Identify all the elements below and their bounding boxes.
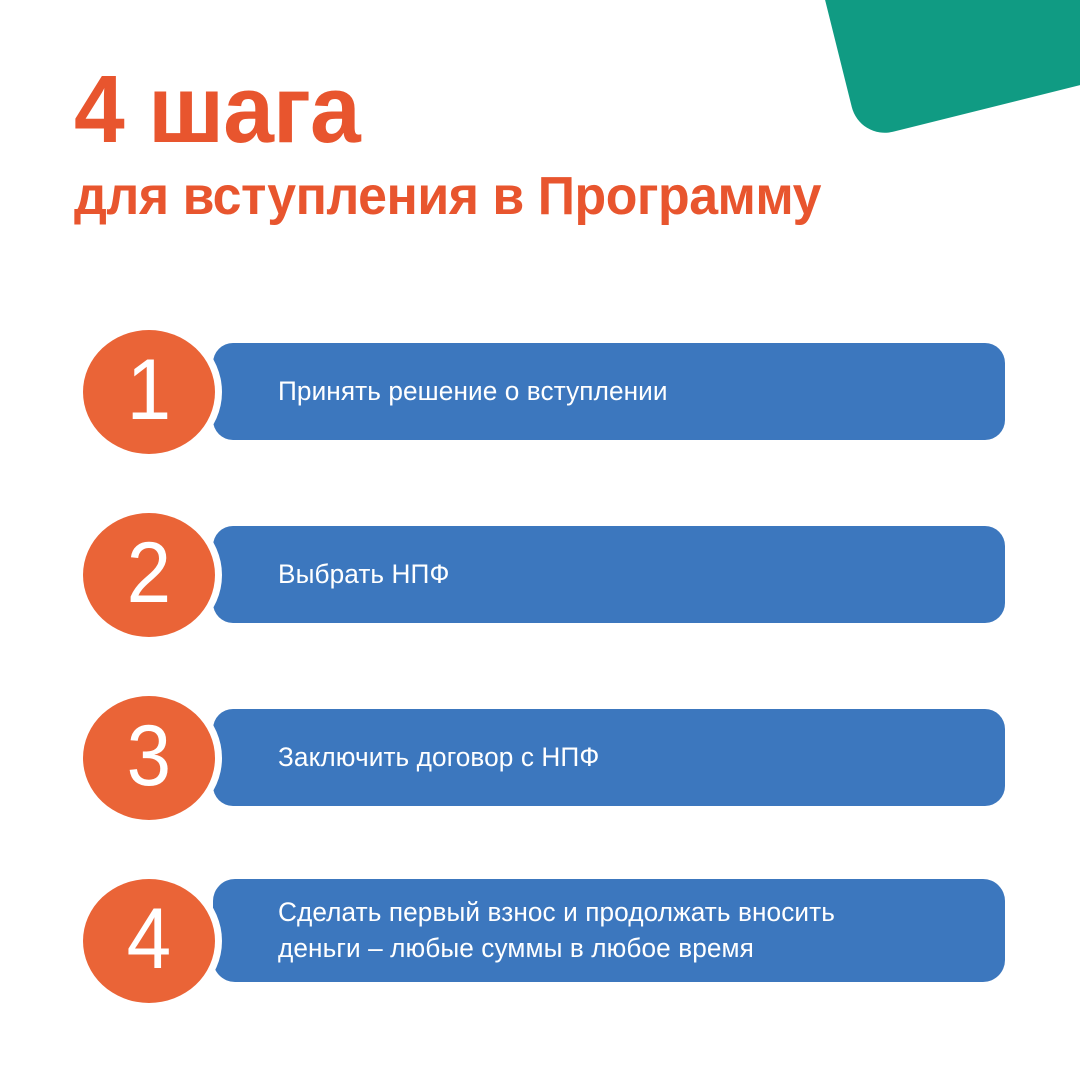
step-bar: Заключить договор с НПФ [213,709,1005,806]
step-bar: Сделать первый взнос и продолжать вносит… [213,879,1005,982]
step-number: 4 [127,896,171,982]
step-label: Выбрать НПФ [278,557,449,593]
step-bar: Принять решение о вступлении [213,343,1005,440]
step-number-badge: 3 [83,696,215,820]
list-item: Выбрать НПФ 2 [0,501,1080,684]
infographic-poster: 4 шага для вступления в Программу Принят… [0,0,1080,1080]
list-item: Заключить договор с НПФ 3 [0,684,1080,867]
page-subtitle: для вступления в Программу [74,168,976,225]
step-label: Принять решение о вступлении [278,374,668,410]
step-number: 2 [127,530,171,616]
step-number: 1 [127,347,171,433]
steps-list: Принять решение о вступлении 1 Выбрать Н… [0,318,1080,1050]
step-label: Сделать первый взнос и продолжать вносит… [278,895,835,966]
step-number-badge: 4 [83,879,215,1003]
step-number-badge: 1 [83,330,215,454]
list-item: Сделать первый взнос и продолжать вносит… [0,867,1080,1050]
step-number: 3 [127,713,171,799]
page-title: 4 шага [74,62,967,158]
step-bar: Выбрать НПФ [213,526,1005,623]
step-number-badge: 2 [83,513,215,637]
list-item: Принять решение о вступлении 1 [0,318,1080,501]
headline-block: 4 шага для вступления в Программу [74,62,1014,225]
step-label: Заключить договор с НПФ [278,740,599,776]
